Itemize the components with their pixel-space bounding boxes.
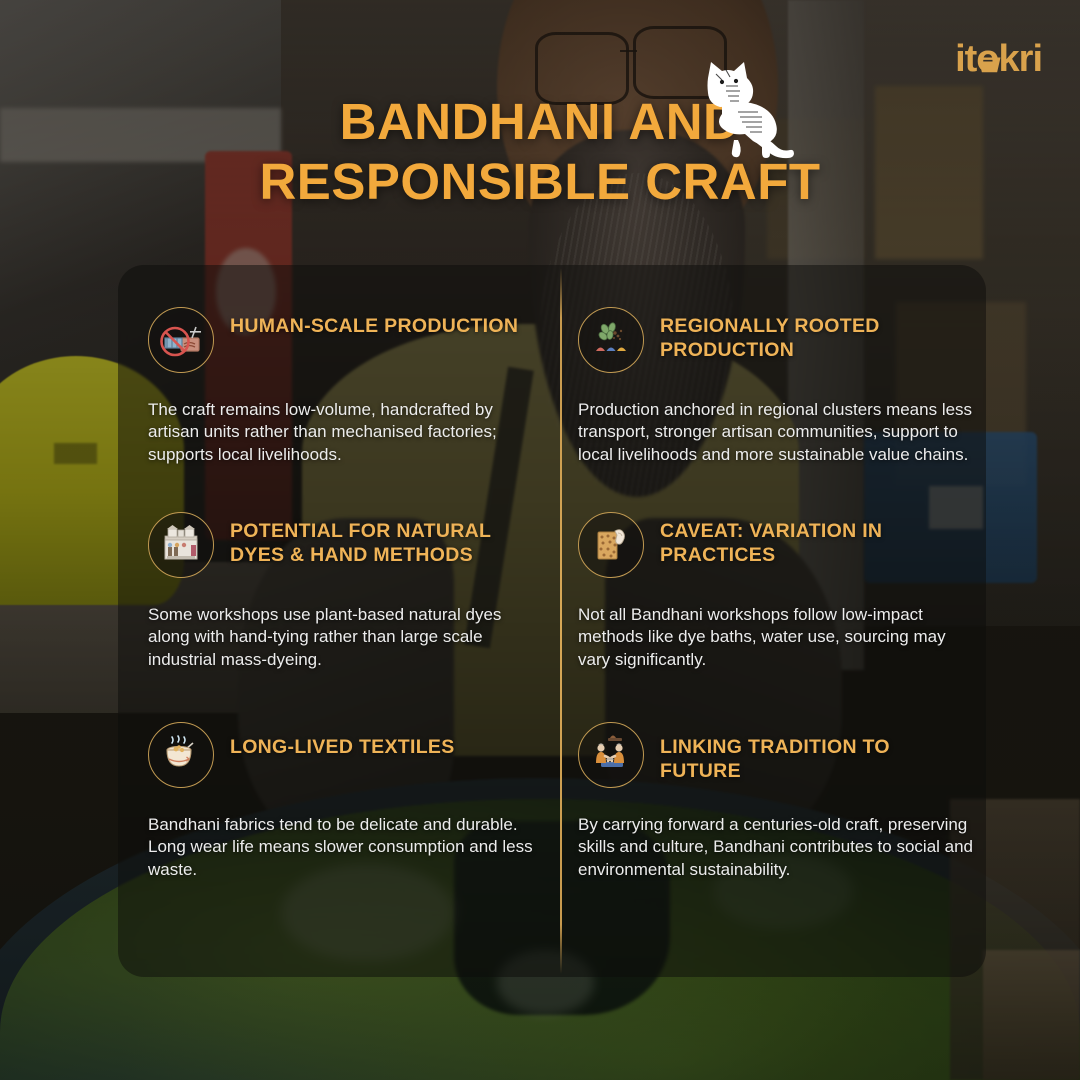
basket-o-icon	[978, 51, 1001, 74]
title-line-2: RESPONSIBLE CRAFT	[0, 152, 1080, 212]
infographic-canvas: itokri BANDHANI AND RESPONSIBLE CRAFT	[0, 0, 1080, 1080]
card-title: LONG-LIVED TEXTILES	[230, 720, 455, 760]
card-body: Bandhani fabrics tend to be delicate and…	[148, 814, 540, 881]
card-header: POTENTIAL FOR NATURAL DYES & HAND METHOD…	[148, 510, 552, 578]
page-title: BANDHANI AND RESPONSIBLE CRAFT	[0, 92, 1080, 212]
hand-holding-patterned-fabric-icon	[578, 512, 644, 578]
card-title: LINKING TRADITION TO FUTURE	[660, 720, 960, 784]
no-factory-machine-icon	[148, 307, 214, 373]
card-header: HUMAN-SCALE PRODUCTION	[148, 305, 552, 373]
title-line-1: BANDHANI AND	[0, 92, 1080, 152]
two-artisans-working-icon	[578, 722, 644, 788]
card-body: Some workshops use plant-based natural d…	[148, 604, 540, 671]
card-body: Not all Bandhani workshops follow low-im…	[578, 604, 978, 671]
cards-grid: HUMAN-SCALE PRODUCTION The craft remains…	[118, 265, 986, 977]
card-header: LINKING TRADITION TO FUTURE	[578, 720, 982, 788]
steaming-dye-pot-icon	[148, 722, 214, 788]
card-body: Production anchored in regional clusters…	[578, 399, 978, 466]
card-title: REGIONALLY ROOTED PRODUCTION	[660, 305, 960, 363]
artisan-workshop-building-icon	[148, 512, 214, 578]
brand-logo[interactable]: itokri	[955, 40, 1042, 78]
card-body: By carrying forward a centuries-old craf…	[578, 814, 978, 881]
card-potential-natural-dyes: POTENTIAL FOR NATURAL DYES & HAND METHOD…	[148, 510, 552, 671]
card-caveat-variation: CAVEAT: VARIATION IN PRACTICES Not all B…	[578, 510, 982, 671]
card-body: The craft remains low-volume, handcrafte…	[148, 399, 540, 466]
card-title: POTENTIAL FOR NATURAL DYES & HAND METHOD…	[230, 510, 530, 568]
card-regionally-rooted-production: REGIONALLY ROOTED PRODUCTION Production …	[578, 305, 982, 466]
card-header: LONG-LIVED TEXTILES	[148, 720, 552, 788]
card-header: CAVEAT: VARIATION IN PRACTICES	[578, 510, 982, 578]
natural-dye-leaves-powders-icon	[578, 307, 644, 373]
card-title: HUMAN-SCALE PRODUCTION	[230, 305, 518, 339]
white-cat-illustration	[686, 56, 798, 160]
card-title: CAVEAT: VARIATION IN PRACTICES	[660, 510, 960, 568]
card-linking-tradition-future: LINKING TRADITION TO FUTURE By carrying …	[578, 720, 982, 881]
card-header: REGIONALLY ROOTED PRODUCTION	[578, 305, 982, 373]
card-human-scale-production: HUMAN-SCALE PRODUCTION The craft remains…	[148, 305, 552, 466]
content-layer: itokri BANDHANI AND RESPONSIBLE CRAFT	[0, 0, 1080, 1080]
card-long-lived-textiles: LONG-LIVED TEXTILES Bandhani fabrics ten…	[148, 720, 552, 881]
